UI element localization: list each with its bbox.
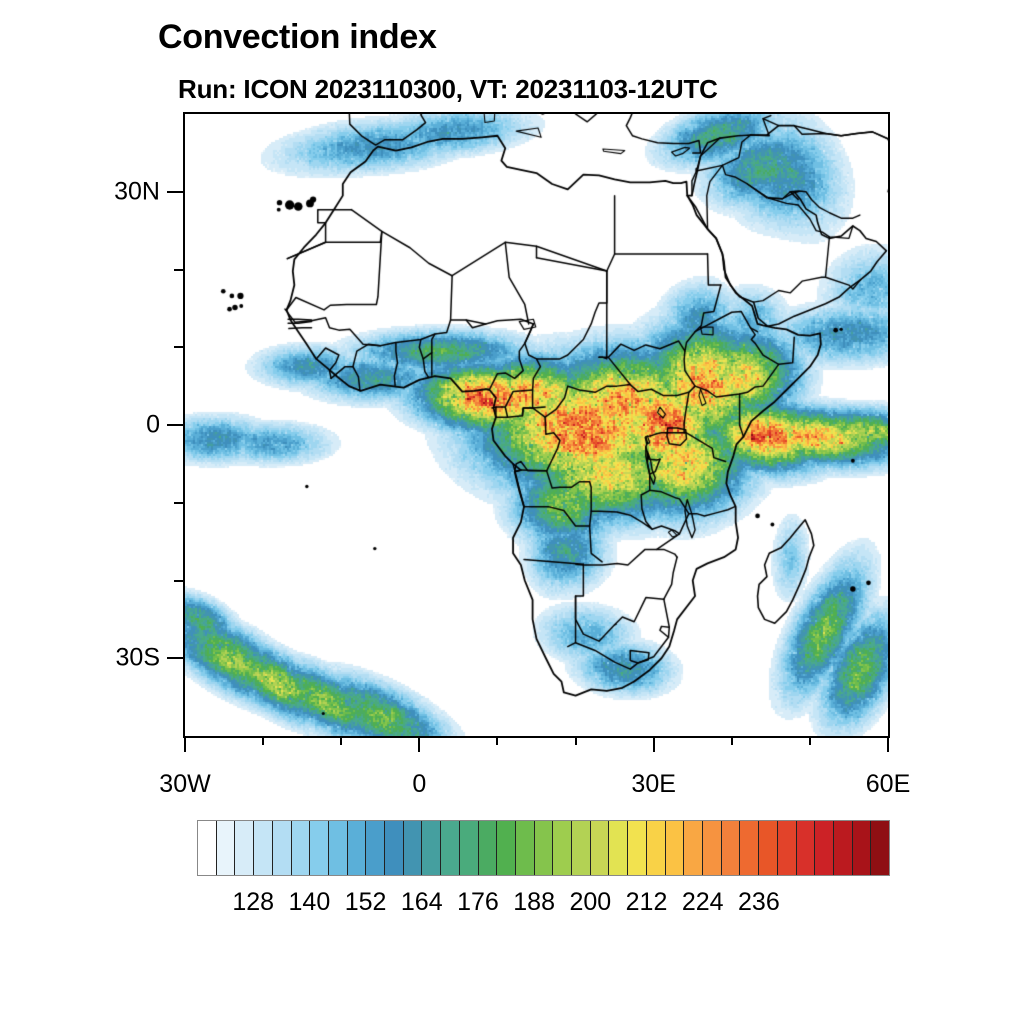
xtick-8	[809, 736, 811, 745]
colorbar-cell-32	[797, 821, 816, 875]
colorbar-cell-1	[217, 821, 236, 875]
colorbar[interactable]	[197, 820, 890, 876]
figure-subtitle: Run: ICON 2023110300, VT: 20231103-12UTC	[178, 74, 718, 105]
colorbar-cell-33	[815, 821, 834, 875]
colorbar-tick-label-0: 128	[232, 888, 274, 917]
colorbar-cell-19	[553, 821, 572, 875]
ytick-3	[167, 424, 183, 426]
colorbar-cell-3	[254, 821, 273, 875]
colorbar-cell-0	[198, 821, 217, 875]
colorbar-cell-6	[310, 821, 329, 875]
colorbar-cell-13	[441, 821, 460, 875]
colorbar-tick-label-4: 176	[457, 888, 499, 917]
colorbar-cell-28	[722, 821, 741, 875]
colorbar-cell-8	[348, 821, 367, 875]
colorbar-cell-20	[572, 821, 591, 875]
ytick-label-6: 30S	[60, 644, 160, 673]
colorbar-cell-16	[497, 821, 516, 875]
colorbar-tick-label-2: 152	[345, 888, 387, 917]
colorbar-tick-label-8: 224	[682, 888, 724, 917]
ytick-4	[174, 502, 183, 504]
ytick-label-0: 30N	[60, 177, 160, 206]
colorbar-cell-24	[647, 821, 666, 875]
colorbar-cell-12	[422, 821, 441, 875]
colorbar-cell-15	[479, 821, 498, 875]
ytick-0	[167, 191, 183, 193]
colorbar-cell-29	[740, 821, 759, 875]
colorbar-cell-22	[609, 821, 628, 875]
colorbar-cell-2	[235, 821, 254, 875]
xtick-4	[496, 736, 498, 745]
colorbar-cell-7	[329, 821, 348, 875]
colorbar-cell-18	[535, 821, 554, 875]
ytick-2	[174, 346, 183, 348]
colorbar-cell-30	[759, 821, 778, 875]
colorbar-tick-label-6: 200	[569, 888, 611, 917]
xtick-label-9: 60E	[866, 770, 910, 799]
ytick-5	[174, 580, 183, 582]
xtick-label-6: 30E	[631, 770, 675, 799]
colorbar-cell-21	[591, 821, 610, 875]
xtick-2	[340, 736, 342, 745]
xtick-0	[184, 736, 186, 752]
colorbar-cell-36	[871, 821, 889, 875]
colorbar-tick-label-7: 212	[626, 888, 668, 917]
ytick-1	[174, 269, 183, 271]
xtick-label-0: 30W	[159, 770, 210, 799]
page-title: Convection index	[158, 18, 437, 57]
colorbar-cell-5	[292, 821, 311, 875]
colorbar-tick-label-1: 140	[289, 888, 331, 917]
colorbar-tick-label-9: 236	[738, 888, 780, 917]
xtick-1	[262, 736, 264, 745]
colorbar-cell-14	[460, 821, 479, 875]
colorbar-cell-23	[628, 821, 647, 875]
colorbar-tick-label-5: 188	[513, 888, 555, 917]
colorbar-tick-label-3: 164	[401, 888, 443, 917]
colorbar-cell-25	[666, 821, 685, 875]
convection-index-field	[185, 114, 888, 736]
xtick-3	[418, 736, 420, 752]
xtick-6	[653, 736, 655, 752]
ytick-label-3: 0	[60, 411, 160, 440]
colorbar-cell-9	[366, 821, 385, 875]
xtick-label-3: 0	[412, 770, 426, 799]
xtick-9	[887, 736, 889, 752]
colorbar-cell-17	[516, 821, 535, 875]
xtick-5	[575, 736, 577, 745]
colorbar-cell-10	[385, 821, 404, 875]
colorbar-cell-4	[273, 821, 292, 875]
colorbar-cell-35	[853, 821, 872, 875]
map-plot-area[interactable]	[183, 112, 890, 738]
colorbar-cell-11	[404, 821, 423, 875]
figure-root: Convection index Run: ICON 2023110300, V…	[0, 0, 1024, 1024]
colorbar-cell-34	[834, 821, 853, 875]
xtick-7	[731, 736, 733, 745]
colorbar-cell-27	[703, 821, 722, 875]
colorbar-cell-26	[684, 821, 703, 875]
colorbar-cell-31	[778, 821, 797, 875]
ytick-6	[167, 657, 183, 659]
